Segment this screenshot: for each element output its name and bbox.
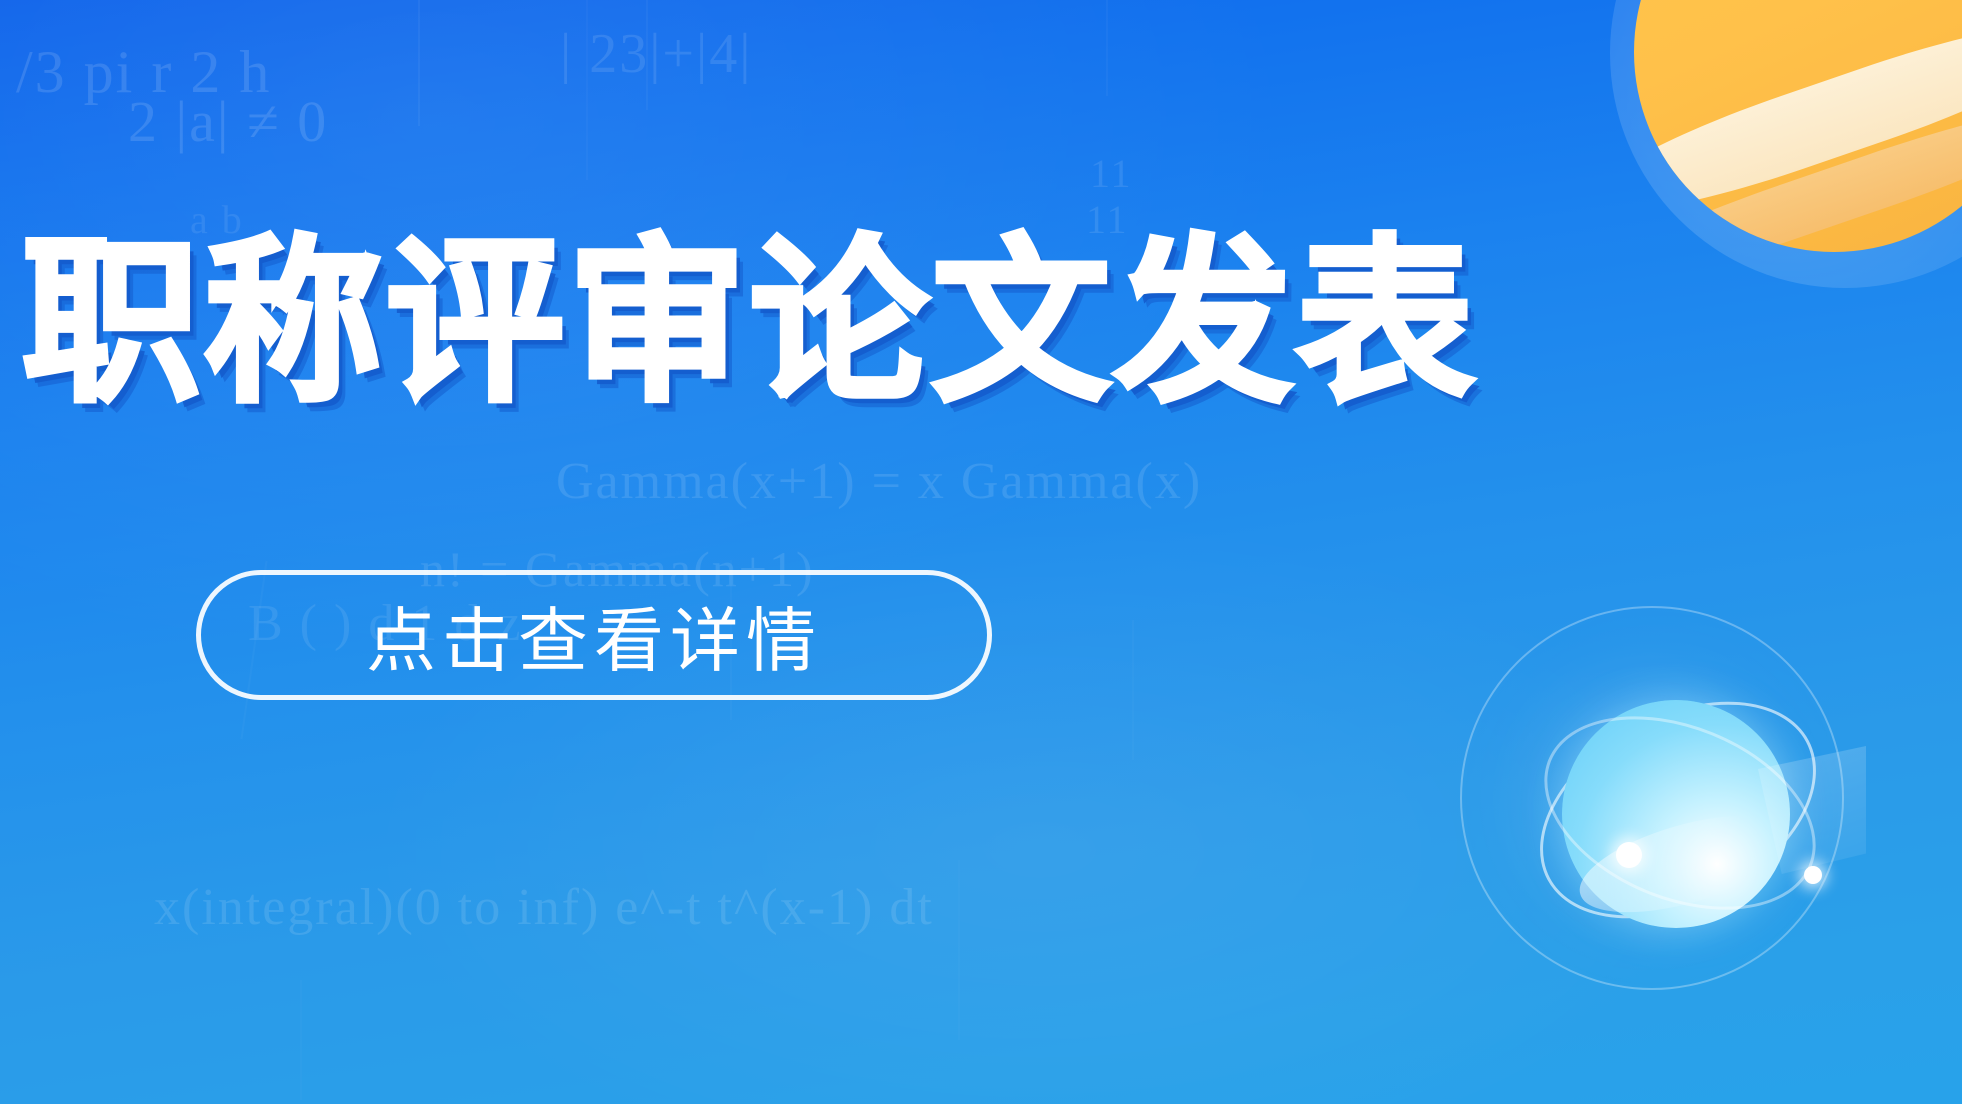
page-title: 职称评审论文发表	[22, 234, 1478, 412]
background-formula: /3 pi r 2 h	[16, 38, 271, 107]
atom-electron-dot	[1804, 866, 1822, 884]
promo-banner: /3 pi r 2 h 2 |a| ≠ 0 | 23|+|4| Gamma(x+…	[0, 0, 1962, 1104]
background-formula: 11	[1090, 150, 1133, 197]
decor-scratch-line	[1132, 620, 1134, 760]
atom-icon	[1452, 598, 1872, 1018]
view-details-button-label: 点击查看详情	[366, 585, 822, 686]
background-formula: x(integral)(0 to inf) e^-t t^(x-1) dt	[154, 878, 934, 937]
atom-electron-dot	[1616, 842, 1642, 868]
decor-scratch-line	[958, 860, 960, 1040]
decor-scratch-line	[300, 980, 302, 1100]
decor-scratch-line	[418, 0, 420, 126]
view-details-button[interactable]: 点击查看详情	[196, 570, 992, 700]
background-formula: | 23|+|4|	[560, 22, 752, 86]
decor-scratch-line	[646, 0, 648, 110]
background-formula: 2 |a| ≠ 0	[128, 88, 328, 155]
decor-scratch-line	[586, 0, 588, 180]
decor-scratch-line	[1106, 0, 1108, 96]
background-formula: Gamma(x+1) = x Gamma(x)	[556, 452, 1202, 511]
